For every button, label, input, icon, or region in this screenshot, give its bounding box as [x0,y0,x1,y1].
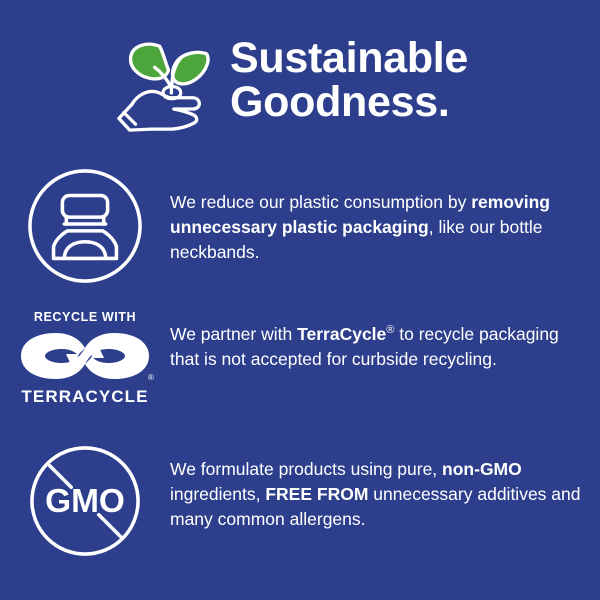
row-terracycle-paragraph: We partner with TerraCycle® to recycle p… [170,322,584,372]
row-gmo-text: We formulate products using pure, non-GM… [170,445,600,532]
bottle-neckband-circle-icon [27,168,143,284]
terracycle-logo-top-text: RECYCLE WITH [34,310,136,324]
row-gmo: GMO We formulate products using pure, no… [0,445,600,557]
infinity-loop-arrows-icon: ® [15,327,155,385]
row-plastic: We reduce our plastic consumption by rem… [0,168,600,284]
row-gmo-icon-slot: GMO [0,445,170,557]
hand-holding-plant-icon [112,32,220,136]
row-terracycle-icon-slot: RECYCLE WITH ® TERRACYCLE [0,310,170,407]
terracycle-registered-mark: ® [148,373,154,382]
row-gmo-paragraph: We formulate products using pure, non-GM… [170,457,584,532]
terracycle-logo: RECYCLE WITH ® TERRACYCLE [13,310,157,407]
header: Sustainable Goodness. [0,22,600,142]
page-title: Sustainable Goodness. [230,36,468,129]
row-plastic-icon-slot [0,168,170,284]
row-plastic-text: We reduce our plastic consumption by rem… [170,168,600,265]
terracycle-logo-bottom-text: TERRACYCLE [21,387,148,407]
no-gmo-circle-icon: GMO [29,445,141,557]
row-terracycle-text: We partner with TerraCycle® to recycle p… [170,310,600,372]
sustainable-goodness-infographic: Sustainable Goodness. We re [0,0,600,600]
gmo-icon-label: GMO [45,483,125,520]
row-plastic-paragraph: We reduce our plastic consumption by rem… [170,190,584,265]
row-terracycle: RECYCLE WITH ® TERRACYCLE [0,310,600,407]
